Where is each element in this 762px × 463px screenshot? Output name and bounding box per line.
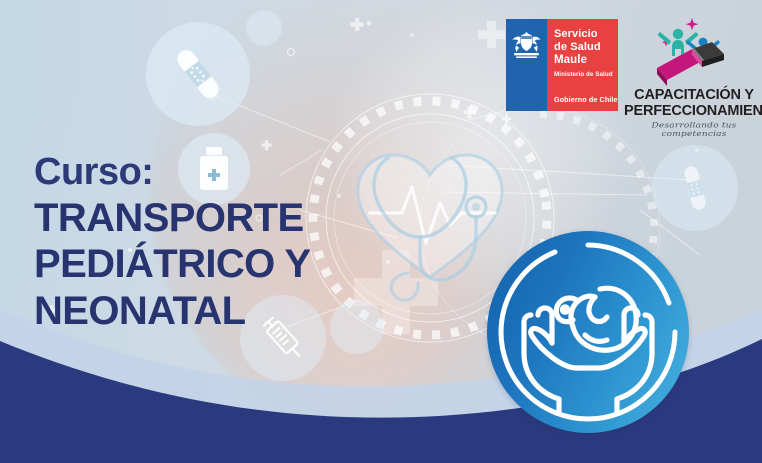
government-logo-text: Servicio de Salud Maule Ministerio de Sa… [554, 28, 613, 78]
bandage-icon-bubble-top-left [146, 22, 250, 126]
course-label: Curso: [34, 152, 311, 193]
bandage-icon-bubble-right [652, 145, 738, 231]
course-badge [487, 231, 689, 433]
bandage-icon [165, 41, 231, 107]
book-with-people-icon [640, 16, 748, 88]
capacitacion-logo: CAPACITACIÓN Y PERFECCIONAMIENTO Desarro… [624, 16, 762, 128]
course-name-line-1: TRANSPORTE [34, 195, 311, 241]
gov-line-3: Maule [554, 54, 613, 68]
gov-ministry-label: Ministerio de Salud [554, 71, 613, 78]
hands-cradling-baby-icon [487, 231, 689, 433]
capacitacion-line-2: PERFECCIONAMIENTO [624, 104, 762, 119]
chile-coat-of-arms-icon [510, 31, 543, 61]
bandage-icon [667, 160, 723, 216]
course-name-line-3: NEONATAL [34, 288, 311, 334]
capacitacion-line-1: CAPACITACIÓN Y [624, 88, 762, 103]
government-logo: Servicio de Salud Maule Ministerio de Sa… [506, 19, 618, 111]
capacitacion-tagline: Desarrollando tus competencias [624, 122, 762, 139]
decorative-bubble-small [246, 10, 282, 46]
government-logo-red-panel: Servicio de Salud Maule Ministerio de Sa… [547, 19, 618, 111]
gov-line-2: de Salud [554, 41, 613, 54]
course-name: TRANSPORTE PEDIÁTRICO Y NEONATAL [34, 195, 311, 334]
gov-footer-label: Gobierno de Chile [554, 95, 618, 104]
course-name-line-2: PEDIÁTRICO Y [34, 241, 311, 287]
gov-line-1: Servicio [554, 28, 613, 41]
government-logo-blue-panel [506, 19, 547, 111]
title-block: Curso: TRANSPORTE PEDIÁTRICO Y NEONATAL [34, 152, 311, 334]
course-banner: Curso: TRANSPORTE PEDIÁTRICO Y NEONATAL [0, 0, 762, 463]
